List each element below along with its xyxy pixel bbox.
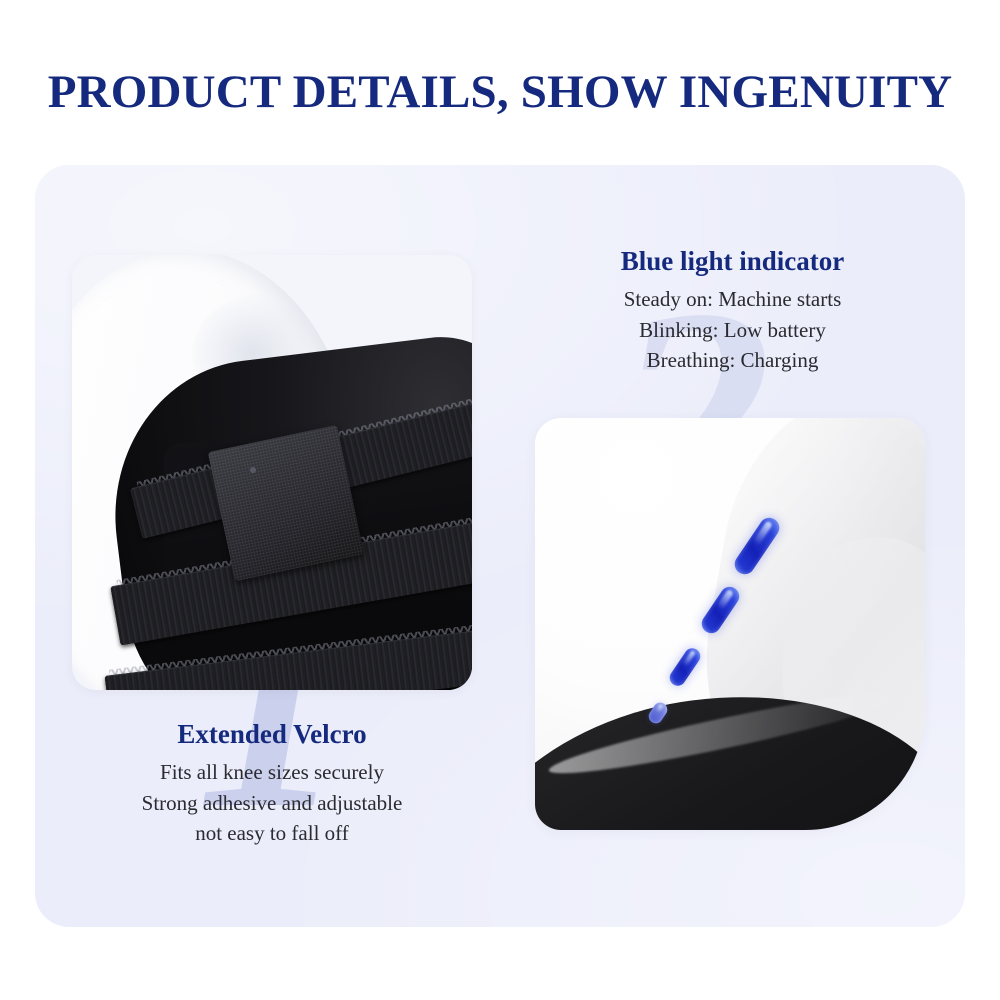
blue-led-indicator-photo: [535, 418, 925, 830]
feature-block-extended-velcro: Extended Velcro Fits all knee sizes secu…: [72, 718, 472, 848]
feature-description: Fits all knee sizes securely Strong adhe…: [72, 757, 472, 848]
feature-line: not easy to fall off: [72, 818, 472, 848]
feature-line: Fits all knee sizes securely: [72, 757, 472, 787]
feature-line: Steady on: Machine starts: [545, 284, 920, 314]
feature-heading: Blue light indicator: [545, 245, 920, 277]
velcro-hook-patch: [208, 425, 365, 582]
feature-block-blue-light-indicator: Blue light indicator Steady on: Machine …: [545, 245, 920, 375]
feature-line: Breathing: Charging: [545, 345, 920, 375]
knee-brace-velcro-photo: [72, 255, 472, 690]
feature-line: Blinking: Low battery: [545, 315, 920, 345]
feature-heading: Extended Velcro: [72, 718, 472, 750]
page-title: PRODUCT DETAILS, SHOW INGENUITY: [0, 68, 1000, 117]
fabric-speck: [250, 467, 256, 473]
infographic-page: PRODUCT DETAILS, SHOW INGENUITY 1 2: [0, 0, 1000, 1000]
feature-description: Steady on: Machine starts Blinking: Low …: [545, 284, 920, 375]
feature-line: Strong adhesive and adjustable: [72, 788, 472, 818]
